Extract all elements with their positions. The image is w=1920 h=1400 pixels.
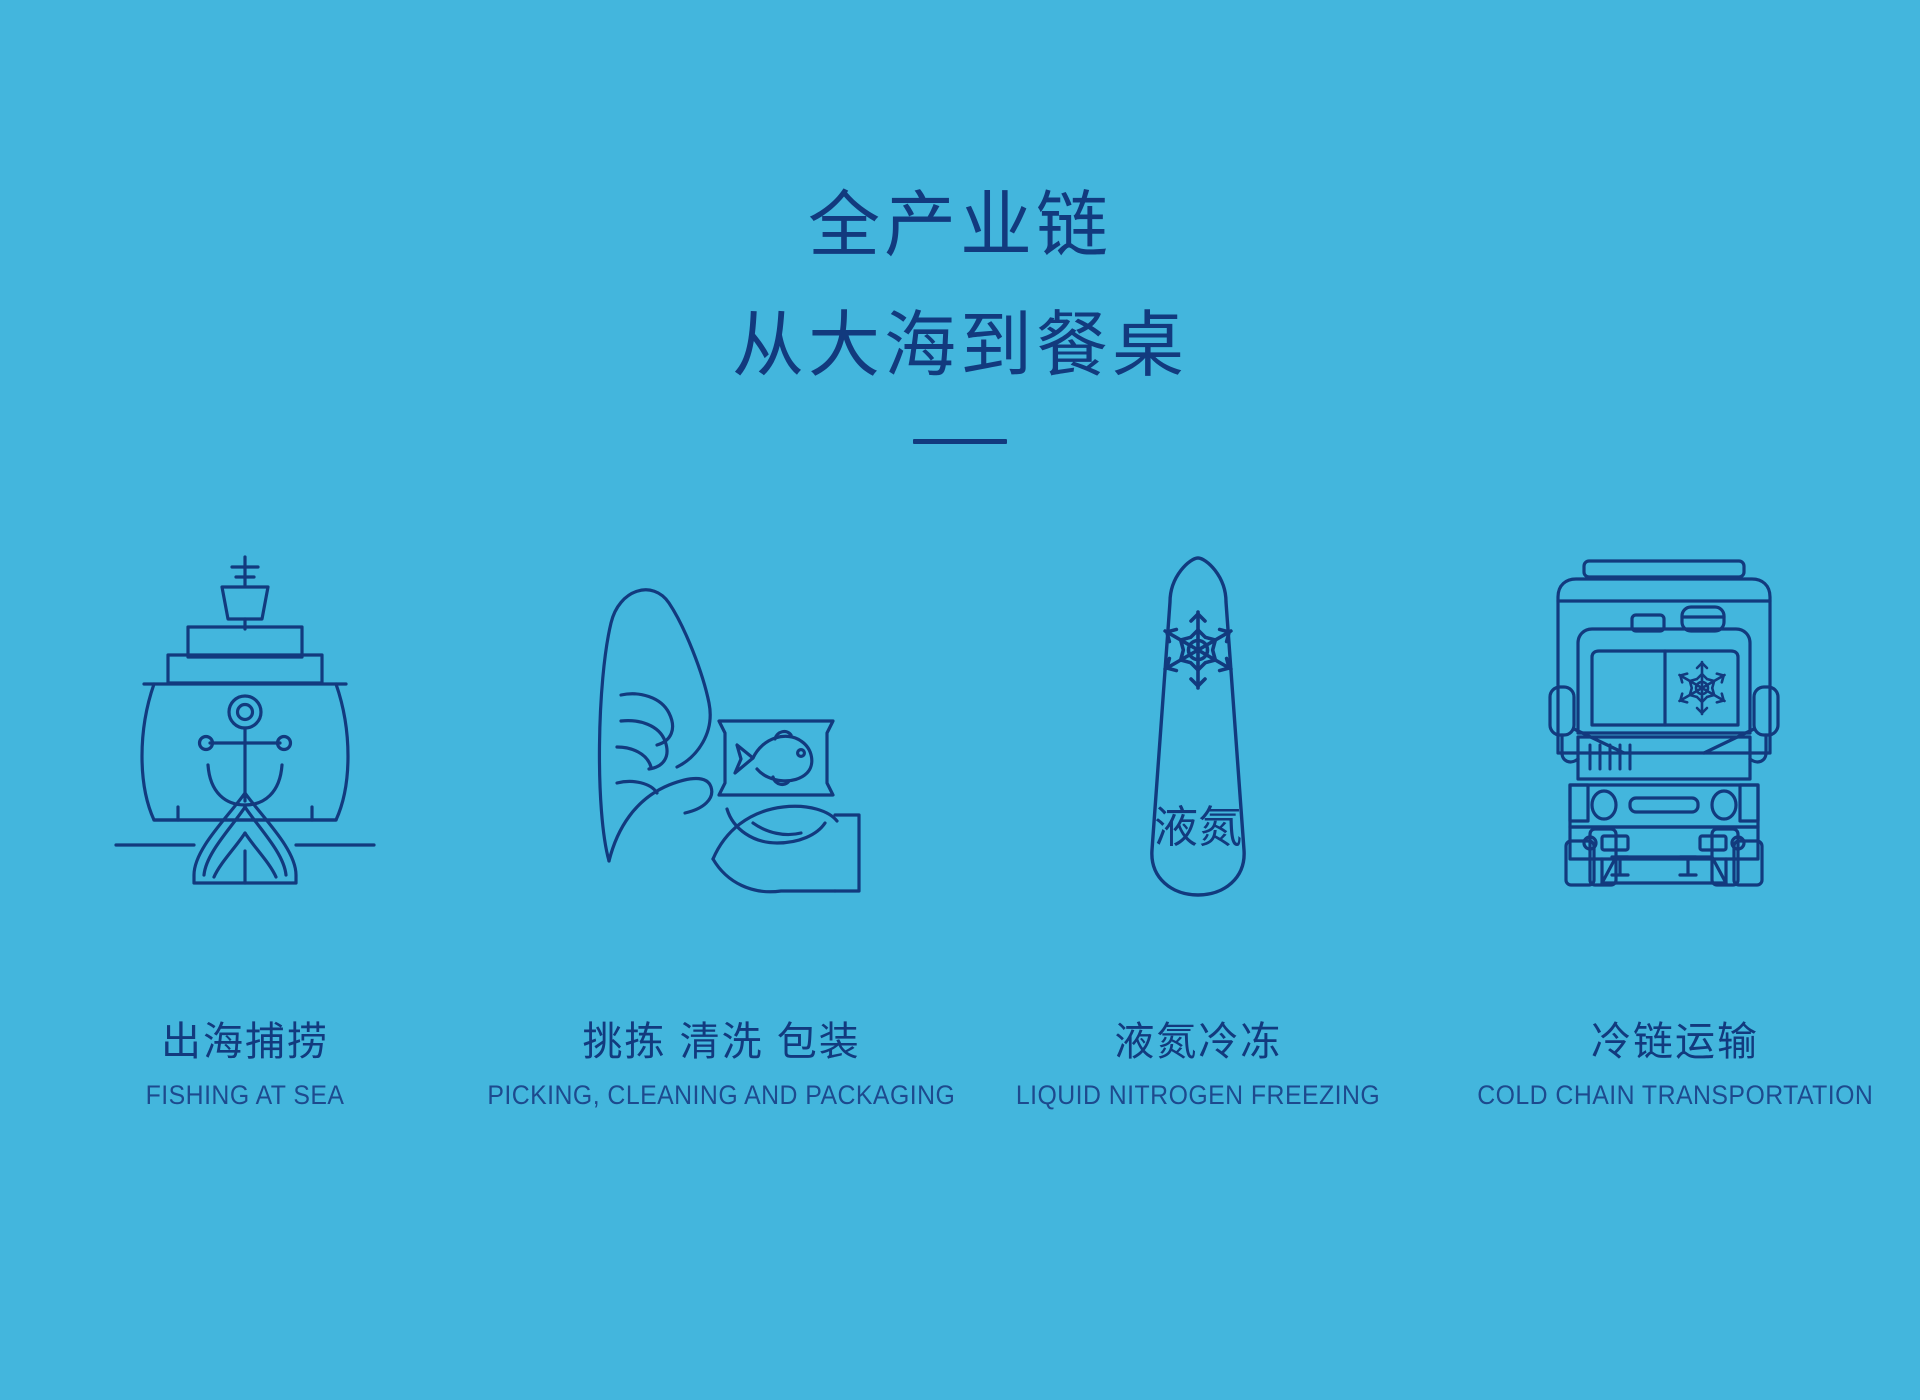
step-cold-chain-transportation[interactable]: 冷链运输 COLD CHAIN TRANSPORTATION xyxy=(1440,522,1910,1109)
poster-canvas: 全产业链 从大海到餐桌 xyxy=(0,0,1920,1400)
process-steps: 出海捕捞 FISHING AT SEA xyxy=(0,520,1920,1109)
step-label-cn: 液氮冷冻 xyxy=(1114,1022,1282,1062)
refrigerated-truck-icon xyxy=(1542,522,1808,926)
step-label-en: COLD CHAIN TRANSPORTATION xyxy=(1477,1082,1873,1109)
step-label-cn: 出海捕捞 xyxy=(161,1022,329,1062)
header: 全产业链 从大海到餐桌 xyxy=(0,175,1920,444)
step-label-en: LIQUID NITROGEN FREEZING xyxy=(1016,1082,1380,1109)
fishing-boat-icon xyxy=(110,520,380,926)
title-divider-wrap xyxy=(0,439,1920,444)
liquid-nitrogen-tank-icon: 液氮 xyxy=(1118,526,1278,926)
tank-text: 液氮 xyxy=(1154,803,1242,852)
step-liquid-nitrogen-freezing[interactable]: 液氮 液氮冷冻 LIQUID NITROGEN FREEZING xyxy=(963,526,1433,1109)
step-label-cn: 挑拣 清洗 包装 xyxy=(583,1022,861,1062)
step-label-en: FISHING AT SEA xyxy=(146,1082,345,1109)
hands-with-packaged-fish-icon xyxy=(577,526,867,926)
step-label-cn: 冷链运输 xyxy=(1591,1022,1759,1062)
page-title-line-2: 从大海到餐桌 xyxy=(0,295,1920,397)
step-picking-cleaning-packaging[interactable]: 挑拣 清洗 包装 PICKING, CLEANING AND PACKAGING xyxy=(487,526,957,1109)
step-label-en: PICKING, CLEANING AND PACKAGING xyxy=(488,1082,956,1109)
page-title-line-1: 全产业链 xyxy=(0,175,1920,277)
title-divider xyxy=(913,439,1007,444)
step-fishing-at-sea[interactable]: 出海捕捞 FISHING AT SEA xyxy=(10,520,480,1109)
